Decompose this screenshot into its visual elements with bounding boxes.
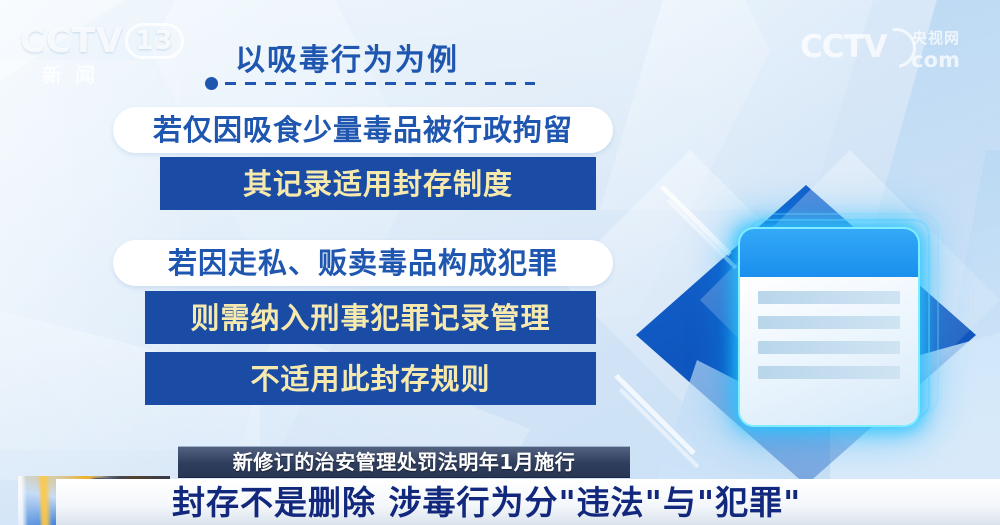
statement-pill-1-label: 若仅因吸食少量毒品被行政拘留 — [153, 115, 573, 145]
bullet-dot-icon — [205, 77, 218, 90]
ticker-label: 新修订的治安管理处罚法明年1月施行 — [233, 451, 575, 473]
channel-number: 13 — [125, 23, 183, 59]
channel-subtitle: 新闻 — [42, 64, 205, 86]
cctv-com-watermark: CCTV 央视网 com — [800, 30, 960, 82]
background-diagonal-right-2 — [930, 150, 1000, 450]
statement-pill-1: 若仅因吸食少量毒品被行政拘留 — [113, 107, 613, 153]
statement-box-1: 其记录适用封存制度 — [160, 157, 596, 210]
statement-box-2: 则需纳入刑事犯罪记录管理 — [145, 291, 596, 344]
statement-pill-2-label: 若因走私、贩卖毒品构成犯罪 — [168, 248, 558, 278]
statement-box-1-label: 其记录适用封存制度 — [243, 169, 513, 199]
document-card-body — [740, 277, 918, 425]
background-streak-4 — [619, 388, 700, 469]
document-card-line — [758, 366, 900, 379]
cctv-letters: CCTV — [20, 21, 123, 61]
cctv13-wordmark: CCTV13 — [20, 22, 205, 62]
document-card-line — [758, 291, 900, 304]
statement-box-3: 不适用此封存规则 — [145, 352, 596, 405]
statement-pill-2: 若因走私、贩卖毒品构成犯罪 — [113, 240, 613, 286]
watermark-chinese-text: 央视网 — [912, 30, 960, 47]
background-streak-2 — [667, 199, 738, 270]
lower-third-ticker: 新修订的治安管理处罚法明年1月施行 — [178, 446, 630, 478]
section-title: 以吸毒行为为例 — [235, 44, 459, 78]
title-underline-dashed — [205, 76, 535, 90]
cctv13-channel-logo: CCTV13 新闻 — [20, 22, 205, 87]
lower-third-headline-bar: 封存不是删除 涉毒行为分"违法"与"犯罪" — [56, 479, 1000, 525]
dashed-rule — [225, 82, 535, 85]
document-card-header — [740, 229, 918, 277]
statement-box-2-label: 则需纳入刑事犯罪记录管理 — [190, 303, 550, 333]
document-card-icon — [738, 227, 920, 427]
background-streak-3 — [614, 374, 695, 455]
headline-label: 封存不是删除 涉毒行为分"违法"与"犯罪" — [172, 485, 801, 521]
document-card-line — [758, 341, 900, 354]
broadcast-frame: CCTV13 新闻 CCTV 央视网 com 以吸毒行为为例 若仅因吸食少量毒品… — [0, 0, 1000, 525]
background-streak-1 — [660, 185, 731, 256]
watermark-com-text: com — [911, 49, 960, 72]
document-card-line — [758, 316, 900, 329]
statement-box-3-label: 不适用此封存规则 — [250, 364, 490, 394]
